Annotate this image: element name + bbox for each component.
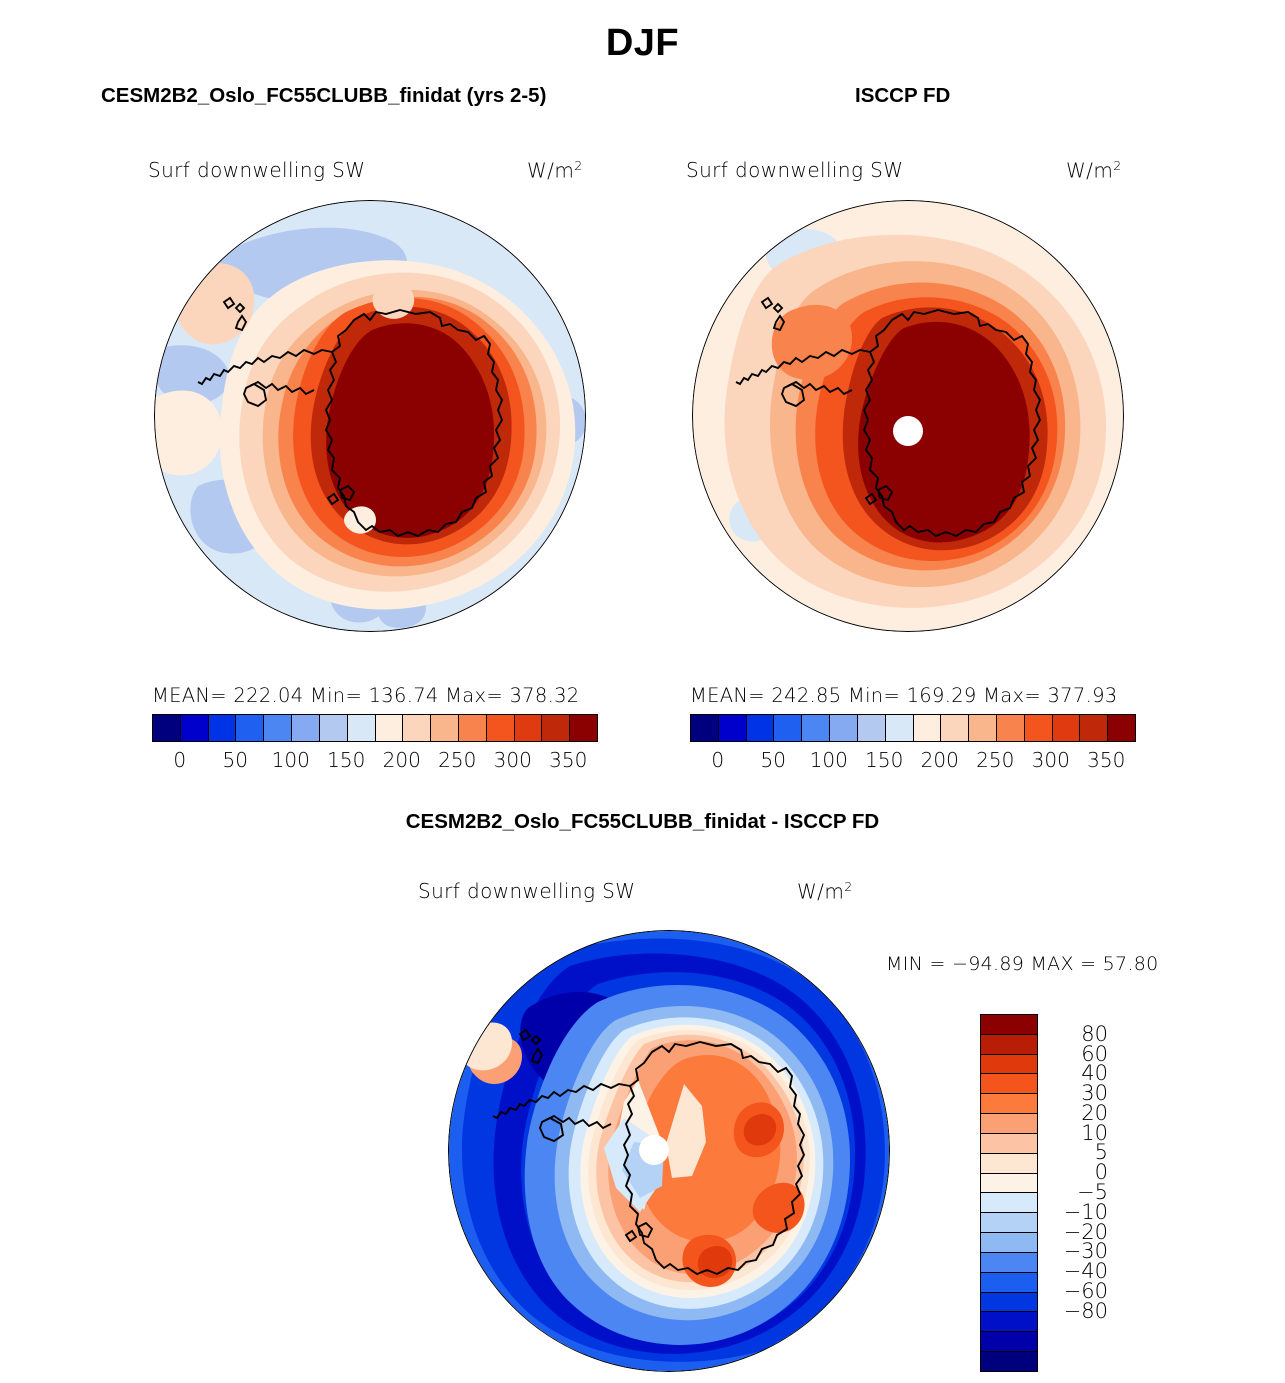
- colorbar-cell: [1108, 715, 1135, 741]
- colorbar-cell: [981, 1293, 1037, 1313]
- colorbar-tick-label: 350: [1087, 748, 1125, 772]
- colorbar-cell: [403, 715, 431, 741]
- colorbar-tick-label: 200: [383, 748, 421, 772]
- polar-map-obs[interactable]: [692, 200, 1124, 632]
- panel-title-model: CESM2B2_Oslo_FC55CLUBB_finidat (yrs 2-5): [101, 84, 546, 108]
- colorbar-cell: [997, 715, 1025, 741]
- colorbar-vertical-ticks: 80604030201050−5−10−20−30−40−60−80: [1046, 1014, 1136, 1370]
- colorbar-cell: [981, 1253, 1037, 1273]
- colorbar-cell: [981, 1134, 1037, 1154]
- colorbar-cell: [376, 715, 404, 741]
- colorbar-cell: [691, 715, 719, 741]
- colorbar-cell: [320, 715, 348, 741]
- colorbar-cell: [981, 1154, 1037, 1174]
- panel-title-obs: ISCCP FD: [855, 84, 950, 108]
- colorbar-cell: [858, 715, 886, 741]
- colorbar-cell: [969, 715, 997, 741]
- season-title: DJF: [0, 22, 1285, 65]
- pole-missing-data-marker-obs: [893, 416, 923, 446]
- colorbar-cell: [981, 1332, 1037, 1352]
- colorbar-cell: [719, 715, 747, 741]
- colorbar-cell: [153, 715, 181, 741]
- colorbar-cell: [542, 715, 570, 741]
- colorbar-cell: [914, 715, 942, 741]
- colorbar-cell: [1080, 715, 1108, 741]
- variable-label-right: Surf downwelling SW: [686, 158, 903, 182]
- unit-exponent-left: 2: [574, 158, 582, 173]
- polar-map-model-contours: [154, 200, 586, 632]
- colorbar-vertical-difference[interactable]: [980, 1014, 1038, 1372]
- colorbar-ticks-right: 050100150200250300350: [690, 748, 1134, 776]
- colorbar-cell: [1053, 715, 1081, 741]
- polar-map-difference-contours: [448, 930, 890, 1372]
- colorbar-cell: [802, 715, 830, 741]
- colorbar-tick-label: 250: [438, 748, 476, 772]
- colorbar-tick-label: −80: [1046, 1299, 1108, 1323]
- unit-exponent-difference: 2: [844, 879, 852, 894]
- unit-exponent-right: 2: [1113, 158, 1121, 173]
- colorbar-cell: [348, 715, 376, 741]
- colorbar-tick-label: 50: [223, 748, 248, 772]
- colorbar-cell: [981, 1233, 1037, 1253]
- colorbar-tick-label: 100: [810, 748, 848, 772]
- colorbar-cell: [981, 1035, 1037, 1055]
- unit-text-difference: W/m: [797, 880, 844, 904]
- stats-right: MEAN= 242.85 Min= 169.29 Max= 377.93: [690, 684, 1118, 707]
- unit-text-right: W/m: [1066, 159, 1113, 183]
- colorbar-tick-label: 300: [1032, 748, 1070, 772]
- colorbar-cell: [886, 715, 914, 741]
- colorbar-tick-label: 300: [494, 748, 532, 772]
- colorbar-cell: [487, 715, 515, 741]
- colorbar-tick-label: 250: [976, 748, 1014, 772]
- colorbar-cell: [981, 1094, 1037, 1114]
- colorbar-tick-label: 200: [921, 748, 959, 772]
- colorbar-tick-label: 150: [327, 748, 365, 772]
- unit-label-difference: W/m2: [797, 879, 852, 904]
- colorbar-cell: [830, 715, 858, 741]
- colorbar-tick-label: 100: [272, 748, 310, 772]
- stats-left: MEAN= 222.04 Min= 136.74 Max= 378.32: [152, 684, 580, 707]
- colorbar-cell: [209, 715, 237, 741]
- colorbar-cell: [981, 1174, 1037, 1194]
- colorbar-cell: [981, 1074, 1037, 1094]
- colorbar-cell: [181, 715, 209, 741]
- colorbar-tick-label: 0: [711, 748, 724, 772]
- colorbar-cell: [747, 715, 775, 741]
- colorbar-cell: [264, 715, 292, 741]
- colorbar-tick-label: 50: [761, 748, 786, 772]
- colorbar-cell: [981, 1193, 1037, 1213]
- colorbar-cell: [981, 1015, 1037, 1035]
- variable-label-left: Surf downwelling SW: [148, 158, 365, 182]
- polar-map-difference[interactable]: [448, 930, 890, 1372]
- colorbar-cell: [981, 1312, 1037, 1332]
- colorbar-cell: [515, 715, 543, 741]
- colorbar-tick-label: 350: [549, 748, 587, 772]
- colorbar-cell: [459, 715, 487, 741]
- colorbar-cell: [236, 715, 264, 741]
- pole-missing-data-marker-difference: [639, 1135, 669, 1165]
- stats-difference: MIN = −94.89 MAX = 57.80: [886, 953, 1159, 975]
- colorbar-cell: [981, 1273, 1037, 1293]
- variable-label-difference: Surf downwelling SW: [418, 879, 635, 903]
- colorbar-cell: [431, 715, 459, 741]
- colorbar-tick-label: 0: [173, 748, 186, 772]
- colorbar-cell: [981, 1213, 1037, 1233]
- unit-label-right: W/m2: [1066, 158, 1121, 183]
- colorbar-cell: [981, 1055, 1037, 1075]
- colorbar-cell: [981, 1352, 1037, 1371]
- polar-map-model[interactable]: [154, 200, 586, 632]
- colorbar-horizontal-left[interactable]: [152, 714, 598, 742]
- colorbar-horizontal-right[interactable]: [690, 714, 1136, 742]
- colorbar-cell: [292, 715, 320, 741]
- colorbar-cell: [941, 715, 969, 741]
- colorbar-tick-label: 150: [865, 748, 903, 772]
- colorbar-cell: [774, 715, 802, 741]
- colorbar-ticks-left: 050100150200250300350: [152, 748, 596, 776]
- colorbar-cell: [1025, 715, 1053, 741]
- colorbar-cell: [570, 715, 597, 741]
- panel-title-difference: CESM2B2_Oslo_FC55CLUBB_finidat - ISCCP F…: [0, 810, 1285, 834]
- unit-label-left: W/m2: [527, 158, 582, 183]
- colorbar-cell: [981, 1114, 1037, 1134]
- unit-text-left: W/m: [527, 159, 574, 183]
